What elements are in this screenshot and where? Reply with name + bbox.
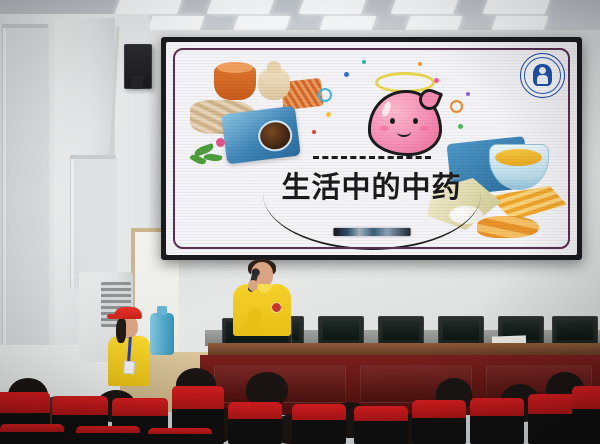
ceiling-light-panel	[491, 16, 548, 30]
auditorium-seat	[228, 402, 282, 444]
seat-headrest	[0, 424, 64, 432]
slide-surface[interactable]: 生活中的中药	[166, 42, 577, 255]
auditorium-seat	[572, 386, 600, 444]
seat-headrest	[354, 406, 408, 421]
blind-headrail-far	[2, 24, 48, 28]
desk-monitor-screen	[443, 321, 479, 340]
seat-headrest	[228, 402, 282, 419]
seat-headrest	[52, 396, 108, 415]
presenter-arm	[244, 307, 263, 335]
auditorium-seat	[412, 400, 466, 444]
seat-headrest	[412, 400, 466, 418]
seat-headrest	[76, 426, 140, 433]
auditorium-seat	[292, 404, 346, 444]
wall-speaker	[124, 44, 152, 89]
red-cap	[114, 307, 142, 319]
seat-headrest	[172, 386, 224, 409]
presenter-hand	[248, 280, 258, 291]
auditorium-seat	[470, 398, 524, 444]
seat-headrest	[148, 428, 212, 434]
seat-headrest	[470, 398, 524, 416]
seat-headrest	[572, 386, 600, 409]
seat-headrest	[112, 398, 168, 416]
lecture-hall-photo: 生活中的中药	[0, 0, 600, 444]
desk-monitor-screen	[383, 321, 419, 340]
slide-border	[173, 48, 570, 249]
led-wall-display[interactable]: 生活中的中药	[161, 37, 582, 260]
ceiling-light-panel	[405, 16, 462, 30]
ceiling-light-panel	[115, 0, 184, 14]
auditorium-seat	[148, 428, 212, 444]
ceiling-light-panel	[147, 16, 204, 30]
presenter-shirt	[233, 284, 291, 336]
auditorium-seat	[354, 406, 408, 444]
auditorium-seat	[76, 426, 140, 444]
window-blinds-far	[2, 26, 49, 356]
volunteer-hair	[116, 319, 126, 343]
presenter-speaking	[230, 262, 292, 334]
ceiling-light-panel	[207, 0, 276, 14]
auditorium-seat	[0, 424, 64, 444]
desk-monitor-screen	[557, 321, 593, 340]
audience-person	[246, 372, 288, 406]
student-volunteer-red-cap	[106, 307, 152, 385]
seat-headrest	[0, 392, 50, 413]
ceiling-light-panel	[299, 0, 368, 14]
seat-headrest	[292, 404, 346, 420]
desk-monitor-screen	[323, 321, 359, 340]
presenter-badge	[271, 302, 282, 313]
water-jug	[150, 313, 174, 355]
ceiling-light-panel	[391, 0, 460, 14]
window-blinds-near	[70, 158, 117, 288]
ceiling-light-panel	[233, 16, 290, 30]
blind-headrail-near	[70, 155, 116, 159]
ceiling-light-panel	[319, 16, 376, 30]
ceiling-light-panel	[483, 0, 552, 14]
